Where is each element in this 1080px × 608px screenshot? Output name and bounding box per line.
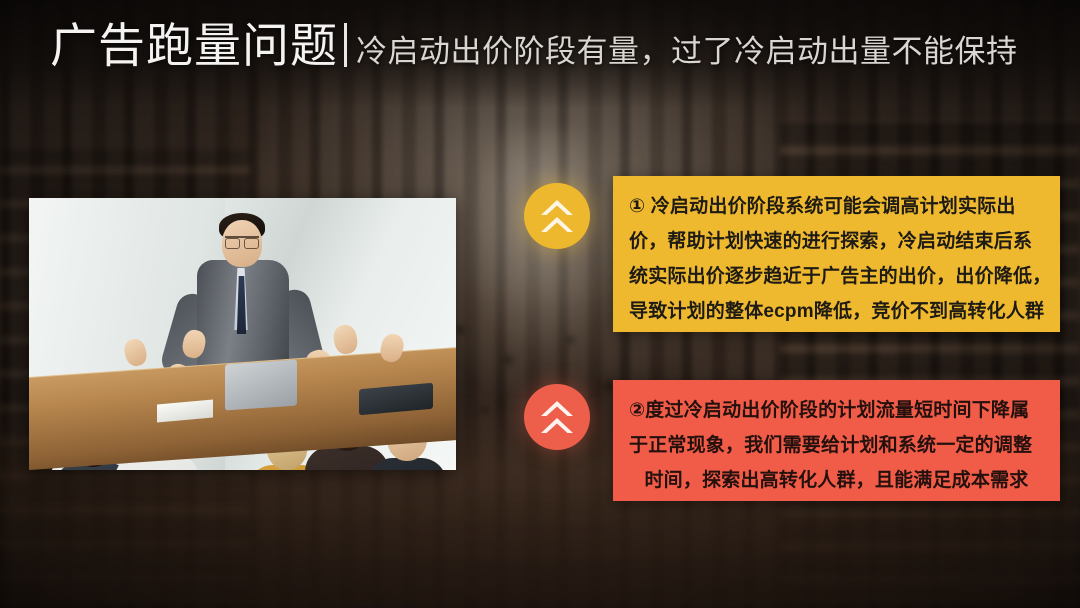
- photo-monitor: [225, 359, 297, 410]
- slide-canvas: 广告跑量问题 冷启动出价阶段有量，过了冷启动出量不能保持: [0, 0, 1080, 608]
- callout-1-line: ① 冷启动出价阶段系统可能会调高计划实际出: [629, 189, 1044, 224]
- callout-box-1: ① 冷启动出价阶段系统可能会调高计划实际出 价，帮助计划快速的进行探索，冷启动结…: [613, 176, 1060, 332]
- photo-presenter-glasses: [225, 236, 259, 247]
- page-subtitle: 冷启动出价阶段有量，过了冷启动出量不能保持: [356, 36, 1018, 67]
- callout-1-line: 导致计划的整体ecpm降低，竞价不到高转化人群: [629, 294, 1044, 329]
- callout-2-line: ②度过冷启动出价阶段的计划流量短时间下降属: [629, 393, 1044, 428]
- slide-header: 广告跑量问题 冷启动出价阶段有量，过了冷启动出量不能保持: [50, 18, 1018, 69]
- meeting-photo: [29, 198, 456, 470]
- double-chevron-up-icon: [524, 183, 590, 249]
- double-chevron-up-icon: [524, 384, 590, 450]
- callout-2-line: 于正常现象，我们需要给计划和系统一定的调整: [629, 428, 1044, 463]
- callout-box-2: ②度过冷启动出价阶段的计划流量短时间下降属 于正常现象，我们需要给计划和系统一定…: [613, 380, 1060, 501]
- callout-1-line: 价，帮助计划快速的进行探索，冷启动结束后系: [629, 224, 1044, 259]
- callout-1-line: 统实际出价逐步趋近于广告主的出价，出价降低，: [629, 259, 1044, 294]
- title-divider: [344, 23, 347, 67]
- page-title: 广告跑量问题: [50, 22, 338, 69]
- callout-2-line: 时间，探索出高转化人群，且能满足成本需求: [629, 463, 1044, 498]
